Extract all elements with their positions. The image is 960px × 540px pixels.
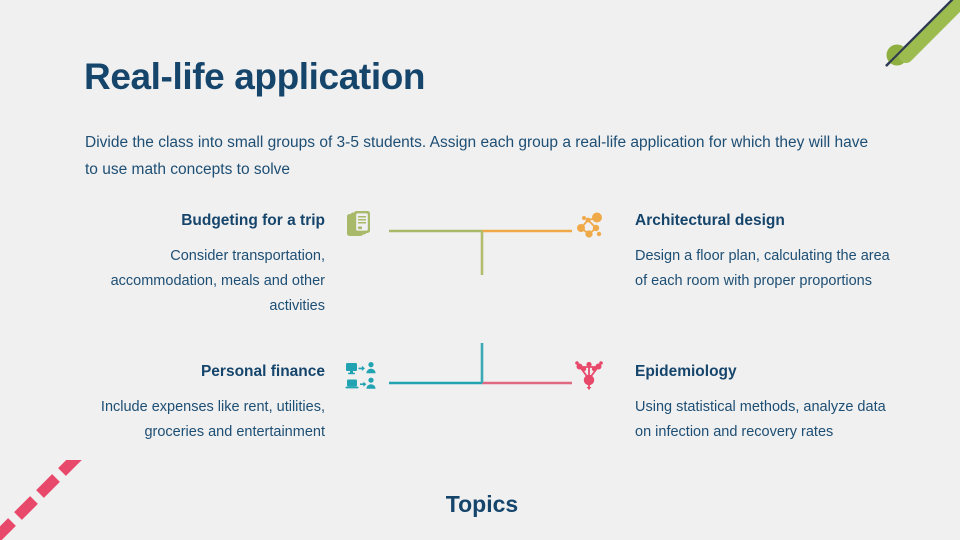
diagram-hub-label: Topics xyxy=(382,491,582,518)
node-title: Architectural design xyxy=(635,211,895,231)
pencil-decoration xyxy=(860,0,960,80)
virus-nodes-icon xyxy=(572,358,606,392)
devices-people-icon xyxy=(345,360,379,394)
node-description: Design a floor plan, calculating the are… xyxy=(635,244,895,294)
topics-diagram: Topics Budgeting for a trip Consider tra… xyxy=(0,195,960,495)
node-description: Consider transportation, accommodation, … xyxy=(65,244,325,319)
node-title: Budgeting for a trip xyxy=(65,211,325,231)
stacked-documents-icon xyxy=(345,209,379,243)
page-title: Real-life application xyxy=(84,56,425,98)
node-description: Using statistical methods, analyze data … xyxy=(635,395,895,445)
network-nodes-icon xyxy=(572,209,606,243)
diagram-node-architectural-design[interactable]: Architectural design Design a floor plan… xyxy=(635,211,895,294)
diagram-node-epidemiology[interactable]: Epidemiology Using statistical methods, … xyxy=(635,362,895,445)
page-subtitle: Divide the class into small groups of 3-… xyxy=(85,129,875,183)
diagram-node-personal-finance[interactable]: Personal finance Include expenses like r… xyxy=(65,362,325,445)
node-title: Personal finance xyxy=(65,362,325,382)
node-title: Epidemiology xyxy=(635,362,895,382)
node-description: Include expenses like rent, utilities, g… xyxy=(65,395,325,445)
diagram-node-budgeting[interactable]: Budgeting for a trip Consider transporta… xyxy=(65,211,325,319)
